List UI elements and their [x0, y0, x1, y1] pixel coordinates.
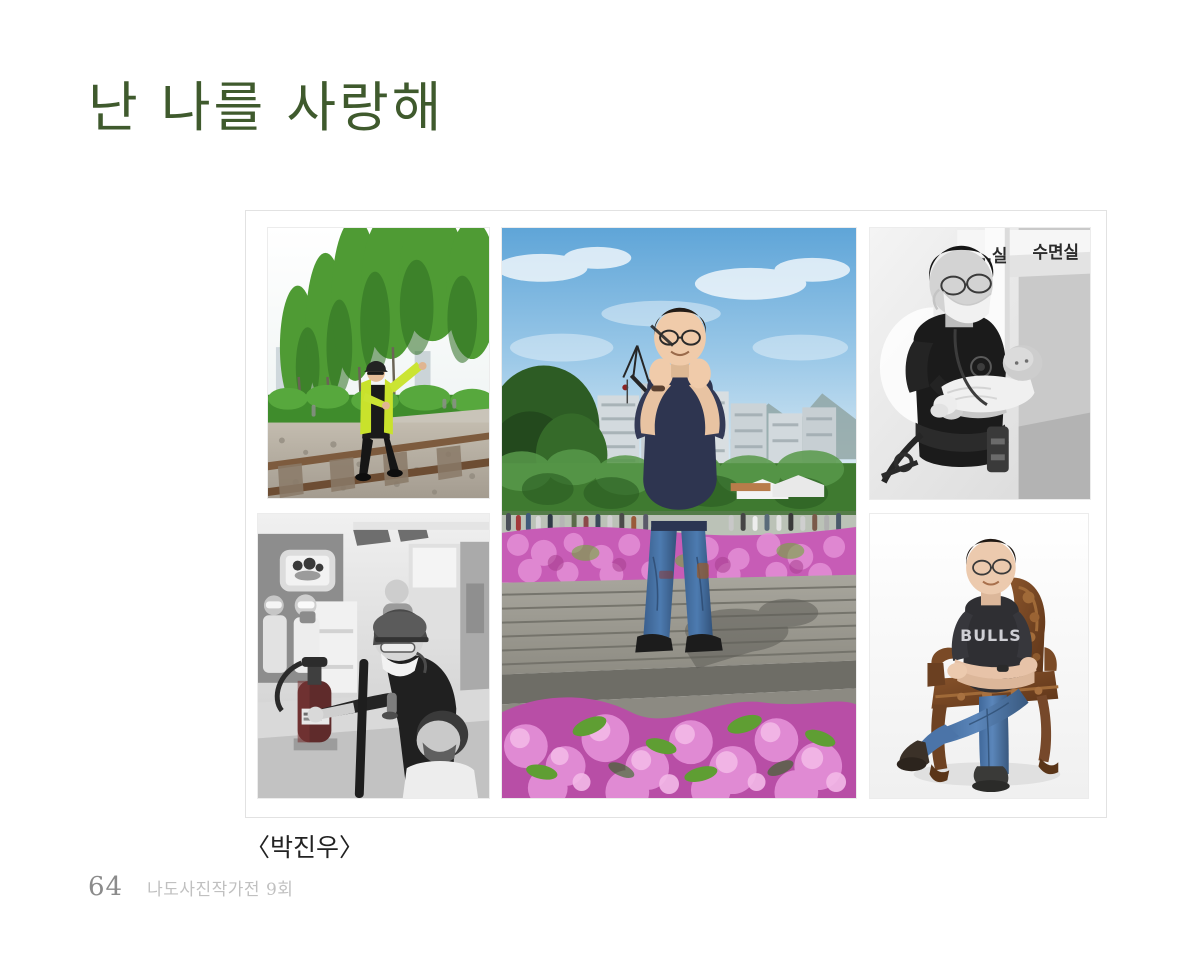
page-title: 난 나를 사랑해 [88, 80, 444, 137]
baby-cpr-mannequin-illustration: …실 수면실 [870, 228, 1090, 499]
photo-collage-frame: …실 수면실 [245, 210, 1107, 818]
azalea-field-portrait-illustration [502, 228, 856, 798]
footer-exhibition-title: 나도사진작가전 9회 [147, 875, 293, 900]
page-number: 64 [88, 872, 123, 902]
photo-baby-cpr-mannequin: …실 수면실 [869, 227, 1091, 500]
railway-dab-pose-illustration [268, 228, 489, 498]
fire-extinguisher-training-illustration [258, 514, 489, 798]
photo-seated-chair-portrait: BULLS [869, 513, 1089, 799]
photo-azalea-field-portrait [501, 227, 857, 799]
photo-caption: 〈박진우〉 [245, 828, 364, 864]
seated-chair-portrait-illustration: BULLS [870, 514, 1088, 798]
shirt-text-bulls: BULLS [960, 626, 1021, 645]
sign-text-sleep-room: 수면실 [1033, 242, 1080, 262]
photo-fire-extinguisher-training [257, 513, 490, 799]
page-footer: 64 나도사진작가전 9회 [88, 872, 293, 902]
photo-railway-dab-pose [267, 227, 490, 499]
